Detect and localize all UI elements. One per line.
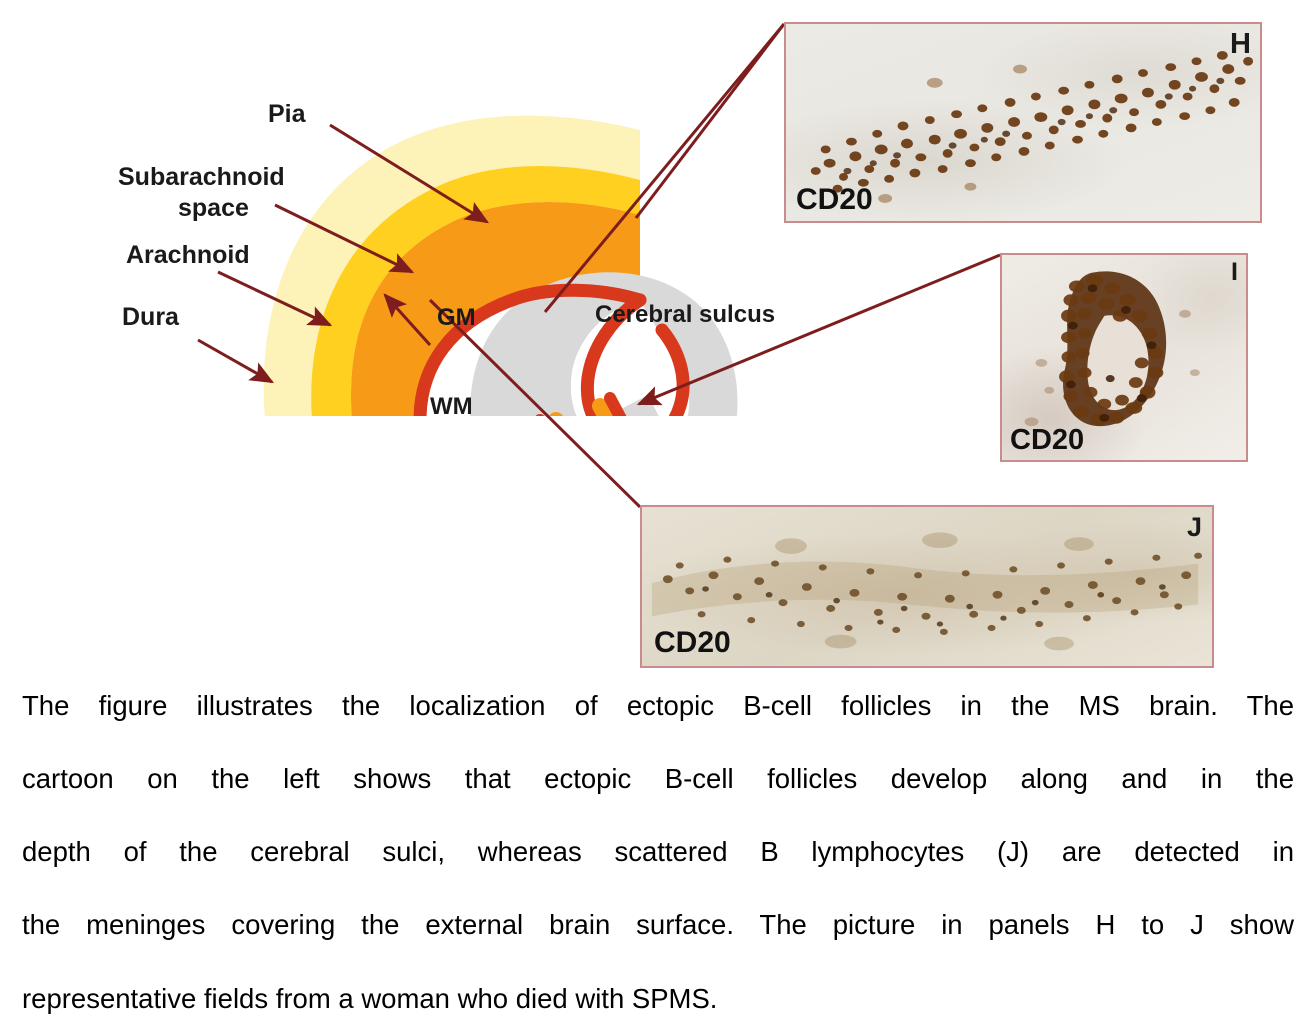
panel-i-letter: I bbox=[1231, 260, 1238, 285]
panel-h-marker-label: CD20 bbox=[796, 185, 873, 215]
figure-container: Pia Subarachnoid space Arachnoid Dura GM… bbox=[0, 0, 1316, 683]
figure-caption: The figure illustrates the localization … bbox=[22, 688, 1294, 1017]
caption-line: depth of the cerebral sulci, whereas sca… bbox=[22, 834, 1294, 907]
caption-line: the meninges covering the external brain… bbox=[22, 907, 1294, 980]
histology-panel-i[interactable]: I CD20 bbox=[1000, 253, 1248, 462]
label-subarachnoid-space: space bbox=[178, 194, 249, 222]
histology-panel-j[interactable]: J CD20 bbox=[640, 505, 1214, 668]
leader-line-dura bbox=[198, 340, 272, 382]
label-dura: Dura bbox=[122, 303, 180, 331]
panel-h-letter: H bbox=[1230, 30, 1251, 59]
histology-panel-h[interactable]: H CD20 bbox=[784, 22, 1262, 223]
label-gray-matter: GM bbox=[437, 304, 476, 331]
panel-i-marker-label: CD20 bbox=[1010, 426, 1084, 455]
label-white-matter: WM bbox=[430, 393, 473, 420]
label-pia: Pia bbox=[268, 100, 307, 128]
caption-line: The figure illustrates the localization … bbox=[22, 688, 1294, 761]
label-subarachnoid: Subarachnoid bbox=[118, 163, 285, 191]
caption-line: cartoon on the left shows that ectopic B… bbox=[22, 761, 1294, 834]
label-arachnoid: Arachnoid bbox=[126, 241, 250, 269]
caption-line: representative fields from a woman who d… bbox=[22, 981, 1294, 1017]
panel-j-letter: J bbox=[1187, 514, 1202, 541]
panel-j-marker-label: CD20 bbox=[654, 628, 731, 658]
label-cerebral-sulcus: Cerebral sulcus bbox=[595, 301, 775, 328]
connector-h-secondary bbox=[636, 24, 784, 218]
